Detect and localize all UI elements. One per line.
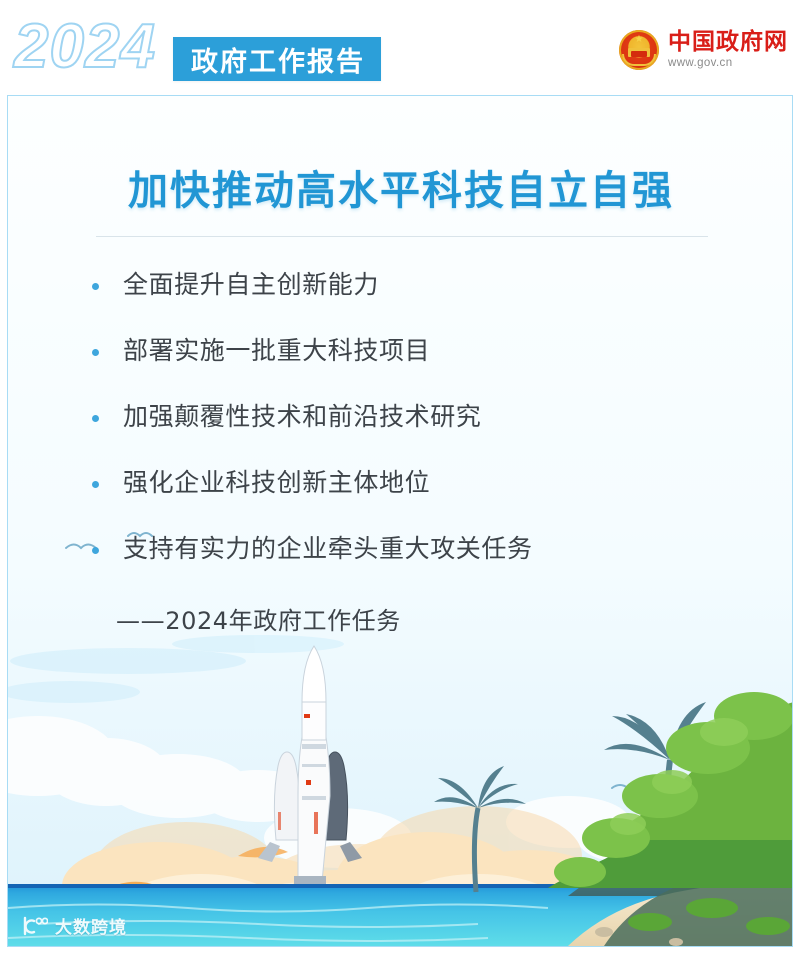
report-banner: 政府工作报告 (173, 37, 381, 81)
list-item-label: 全面提升自主创新能力 (123, 268, 379, 302)
source-attribution: ——2024年政府工作任务 (116, 601, 401, 636)
report-banner-label: 政府工作报告 (191, 40, 365, 79)
list-item: 部署实施一批重大科技项目 (8, 334, 793, 400)
china-national-emblem-icon: ★ (619, 30, 659, 70)
emblem-wheat-icon (622, 54, 656, 66)
watermark-label: 大数跨境 (55, 913, 127, 938)
emblem-star-icon: ★ (635, 35, 644, 45)
list-item-label: 加强颠覆性技术和前沿技术研究 (123, 400, 481, 434)
list-item: 加强颠覆性技术和前沿技术研究 (8, 400, 793, 466)
bullet-dot-icon (92, 349, 99, 356)
page-title: 加快推动高水平科技自立自强 (8, 158, 793, 216)
poster-header: 2024 政府工作报告 ★ 中国政府网 www.gov.cn (0, 0, 800, 95)
year-outline-text: 2024 (14, 16, 156, 78)
list-item: 全面提升自主创新能力 (8, 268, 793, 334)
gov-site-name: 中国政府网 (668, 31, 788, 54)
list-item: 支持有实力的企业牵头重大攻关任务 (8, 532, 793, 598)
list-item-label: 支持有实力的企业牵头重大攻关任务 (123, 532, 533, 566)
gov-site-url: www.gov.cn (668, 58, 788, 70)
bullet-dot-icon (92, 481, 99, 488)
gov-site-logo[interactable]: ★ 中国政府网 www.gov.cn (619, 30, 788, 70)
list-item-label: 部署实施一批重大科技项目 (123, 334, 430, 368)
list-item: 强化企业科技创新主体地位 (8, 466, 793, 532)
bullet-list: 全面提升自主创新能力 部署实施一批重大科技项目 加强颠覆性技术和前沿技术研究 强… (8, 268, 793, 598)
bullet-dot-icon (92, 415, 99, 422)
bullet-dot-icon (92, 283, 99, 290)
poster-root: 2024 政府工作报告 ★ 中国政府网 www.gov.cn (0, 0, 800, 955)
list-item-label: 强化企业科技创新主体地位 (123, 466, 430, 500)
title-divider (96, 236, 708, 237)
bullet-dot-icon (92, 547, 99, 554)
watermark: 大数跨境 (22, 913, 127, 938)
gov-site-logo-text: 中国政府网 www.gov.cn (668, 31, 788, 70)
dashukuajing-logo-icon (22, 916, 48, 936)
content-card: 加快推动高水平科技自立自强 全面提升自主创新能力 部署实施一批重大科技项目 加强… (7, 95, 793, 947)
